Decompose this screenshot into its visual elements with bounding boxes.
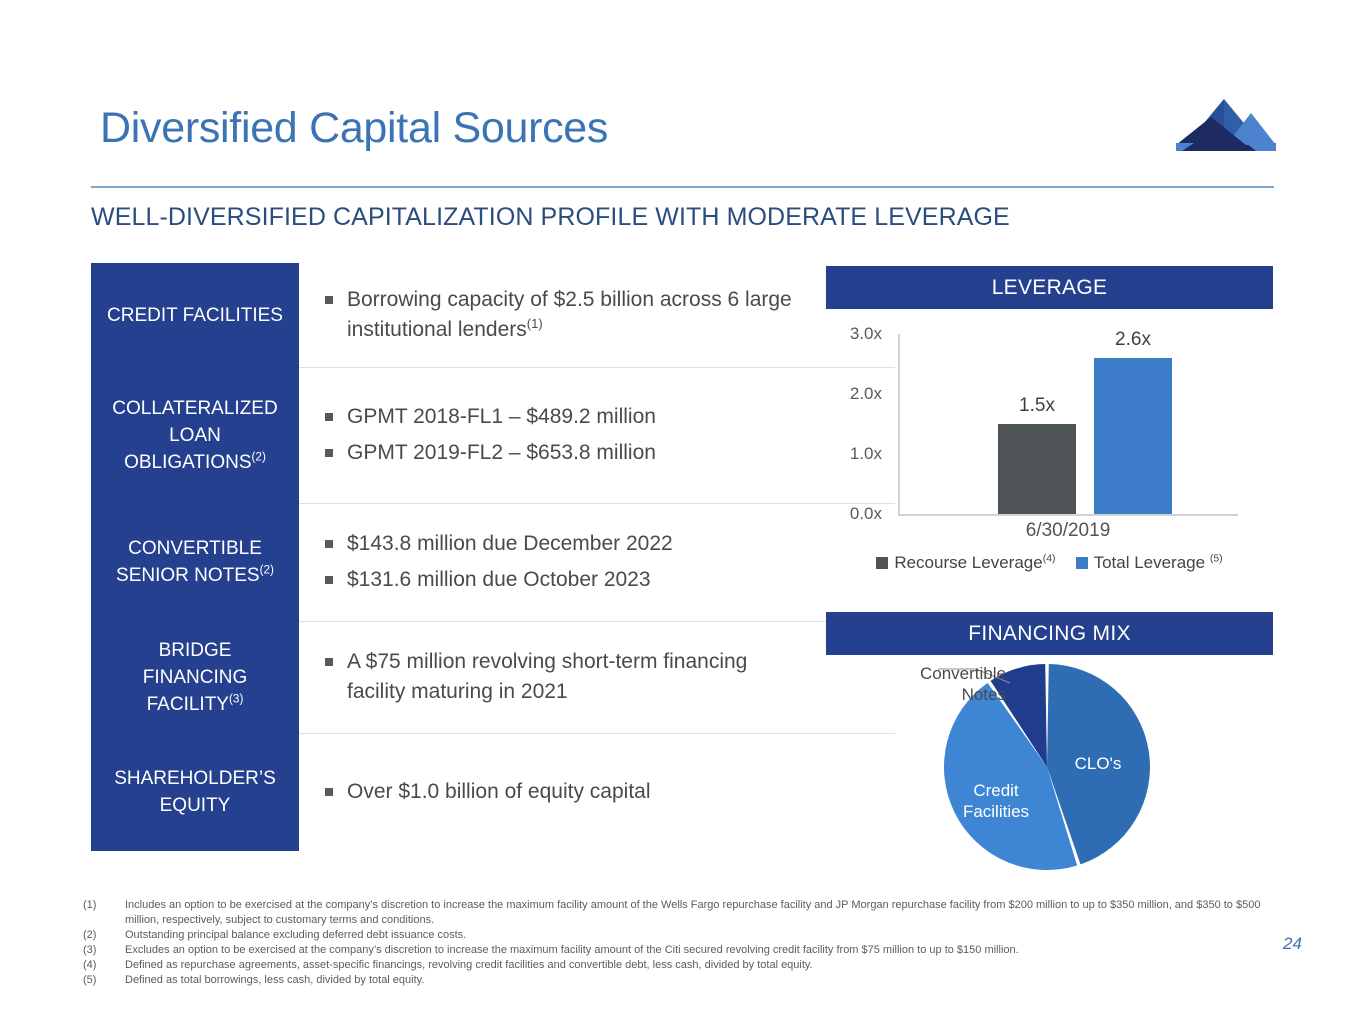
row-category-label-line: FINANCING — [143, 664, 248, 691]
page-number: 24 — [1283, 934, 1302, 954]
row-category-label: COLLATERALIZEDLOANOBLIGATIONS(2) — [91, 367, 299, 503]
row-category-label: CONVERTIBLESENIOR NOTES(2) — [91, 503, 299, 621]
row-category-label-line: SHAREHOLDER’S — [114, 765, 276, 792]
row-category-label-line: LOAN — [112, 422, 277, 449]
bullet-square-icon — [325, 449, 333, 457]
footnote-ref: (3) — [229, 692, 243, 705]
pie-label-line: Facilities — [946, 801, 1046, 822]
footnote-ref: (5) — [1210, 552, 1223, 564]
capital-sources-table: CREDIT FACILITIESBorrowing capacity of $… — [91, 263, 805, 853]
table-row: COLLATERALIZEDLOANOBLIGATIONS(2)GPMT 201… — [91, 367, 805, 503]
list-item: A $75 million revolving short-term finan… — [325, 647, 795, 707]
table-row: CONVERTIBLESENIOR NOTES(2)$143.8 million… — [91, 503, 805, 621]
list-item-text: $131.6 million due October 2023 — [347, 565, 795, 595]
row-category-label-line: COLLATERALIZED — [112, 395, 277, 422]
bullet-square-icon — [325, 540, 333, 548]
legend-swatch-icon — [1076, 557, 1088, 569]
pie-callout-line: Notes — [896, 684, 1006, 705]
legend-swatch-icon — [876, 557, 888, 569]
row-category-label-line: OBLIGATIONS(2) — [112, 449, 277, 476]
pie-label-clos: CLO's — [1058, 753, 1138, 774]
title-divider — [91, 186, 1274, 188]
list-item: GPMT 2019-FL2 – $653.8 million — [325, 438, 795, 468]
footnotes-list: (1)Includes an option to be exercised at… — [83, 898, 1263, 988]
row-bullet-list: A $75 million revolving short-term finan… — [299, 621, 805, 733]
footnote-text: Includes an option to be exercised at th… — [125, 898, 1263, 928]
list-item-text: Over $1.0 billion of equity capital — [347, 777, 795, 807]
y-axis-tick-label: 1.0x — [836, 444, 882, 464]
pie-callout-convertible-notes: ConvertibleNotes — [896, 663, 1006, 705]
footnote-ref: (2) — [260, 564, 274, 577]
row-bullet-list: $143.8 million due December 2022$131.6 m… — [299, 503, 805, 621]
footnote-text: Defined as repurchase agreements, asset-… — [125, 958, 1263, 973]
bullet-square-icon — [325, 576, 333, 584]
footnote-item: (4)Defined as repurchase agreements, ass… — [83, 958, 1263, 973]
footnote-marker: (4) — [83, 958, 125, 973]
footnote-ref: (1) — [527, 316, 543, 331]
pie-label-credit-facilities: CreditFacilities — [946, 780, 1046, 822]
list-item-text: GPMT 2018-FL1 – $489.2 million — [347, 402, 795, 432]
row-category-label-line: FACILITY(3) — [143, 691, 248, 718]
leverage-bar-chart: 1.5x2.6x 6/30/2019 Recourse Leverage(4)T… — [826, 320, 1273, 585]
bar-plot-area: 1.5x2.6x — [898, 334, 1238, 514]
footnote-marker: (2) — [83, 928, 125, 943]
y-axis-line — [898, 334, 900, 514]
row-category-label-line: BRIDGE — [143, 637, 248, 664]
row-category-label-line: CONVERTIBLE — [116, 535, 274, 562]
list-item: Over $1.0 billion of equity capital — [325, 777, 795, 807]
list-item-text: A $75 million revolving short-term finan… — [347, 647, 795, 707]
footnote-item: (5)Defined as total borrowings, less cas… — [83, 973, 1263, 988]
x-axis-line — [898, 514, 1238, 516]
list-item: $131.6 million due October 2023 — [325, 565, 795, 595]
bar-data-label: 1.5x — [998, 395, 1076, 417]
bar-chart-legend: Recourse Leverage(4)Total Leverage (5) — [826, 553, 1273, 573]
footnote-item: (2)Outstanding principal balance excludi… — [83, 928, 1263, 943]
row-bullet-list: GPMT 2018-FL1 – $489.2 millionGPMT 2019-… — [299, 367, 805, 503]
table-row: CREDIT FACILITIESBorrowing capacity of $… — [91, 263, 805, 367]
page-subtitle: WELL-DIVERSIFIED CAPITALIZATION PROFILE … — [91, 203, 1010, 232]
row-category-label: SHAREHOLDER’SEQUITY — [91, 733, 299, 851]
legend-label: Total Leverage (5) — [1094, 553, 1223, 573]
footnote-marker: (3) — [83, 943, 125, 958]
table-row: BRIDGEFINANCINGFACILITY(3)A $75 million … — [91, 621, 805, 733]
footnote-text: Excludes an option to be exercised at th… — [125, 943, 1263, 958]
y-axis-tick-label: 2.0x — [836, 384, 882, 404]
row-category-label: BRIDGEFINANCINGFACILITY(3) — [91, 621, 299, 733]
row-bullet-list: Over $1.0 billion of equity capital — [299, 733, 805, 851]
pie-callout-line: Convertible — [896, 663, 1006, 684]
footnote-ref: (2) — [252, 450, 266, 463]
pie-svg — [826, 655, 1273, 880]
bar-total-leverage: 2.6x — [1094, 358, 1172, 514]
row-category-label-line: CREDIT FACILITIES — [107, 302, 283, 329]
row-category-label-line: SENIOR NOTES(2) — [116, 562, 274, 589]
footnote-marker: (5) — [83, 973, 125, 988]
page-title: Diversified Capital Sources — [100, 104, 608, 153]
bar-data-label: 2.6x — [1094, 329, 1172, 351]
footnote-ref: (4) — [1043, 552, 1056, 564]
x-axis-label: 6/30/2019 — [898, 520, 1238, 542]
list-item-text: $143.8 million due December 2022 — [347, 529, 795, 559]
row-bullet-list: Borrowing capacity of $2.5 billion acros… — [299, 263, 805, 367]
financing-panel-header: FINANCING MIX — [826, 612, 1273, 655]
legend-item: Recourse Leverage(4) — [876, 553, 1055, 573]
y-axis-tick-label: 0.0x — [836, 504, 882, 524]
y-axis-tick-label: 3.0x — [836, 324, 882, 344]
list-item: GPMT 2018-FL1 – $489.2 million — [325, 402, 795, 432]
bullet-square-icon — [325, 788, 333, 796]
row-category-label-line: EQUITY — [114, 792, 276, 819]
leverage-panel-header: LEVERAGE — [826, 266, 1273, 309]
legend-label: Recourse Leverage(4) — [894, 553, 1055, 573]
list-item-text: GPMT 2019-FL2 – $653.8 million — [347, 438, 795, 468]
financing-mix-pie-chart: ConvertibleNotes CLO's CreditFacilities — [826, 655, 1273, 880]
bar-recourse-leverage: 1.5x — [998, 424, 1076, 514]
list-item-text: Borrowing capacity of $2.5 billion acros… — [347, 285, 795, 345]
footnote-text: Outstanding principal balance excluding … — [125, 928, 1263, 943]
pie-label-line: Credit — [946, 780, 1046, 801]
bullet-square-icon — [325, 413, 333, 421]
mountain-logo-icon — [1176, 99, 1276, 161]
bullet-square-icon — [325, 658, 333, 666]
legend-item: Total Leverage (5) — [1076, 553, 1223, 573]
row-category-label: CREDIT FACILITIES — [91, 263, 299, 367]
footnote-text: Defined as total borrowings, less cash, … — [125, 973, 1263, 988]
list-item: $143.8 million due December 2022 — [325, 529, 795, 559]
footnote-marker: (1) — [83, 898, 125, 928]
table-row: SHAREHOLDER’SEQUITYOver $1.0 billion of … — [91, 733, 805, 851]
footnote-item: (1)Includes an option to be exercised at… — [83, 898, 1263, 928]
list-item: Borrowing capacity of $2.5 billion acros… — [325, 285, 795, 345]
bullet-square-icon — [325, 296, 333, 304]
footnote-item: (3)Excludes an option to be exercised at… — [83, 943, 1263, 958]
